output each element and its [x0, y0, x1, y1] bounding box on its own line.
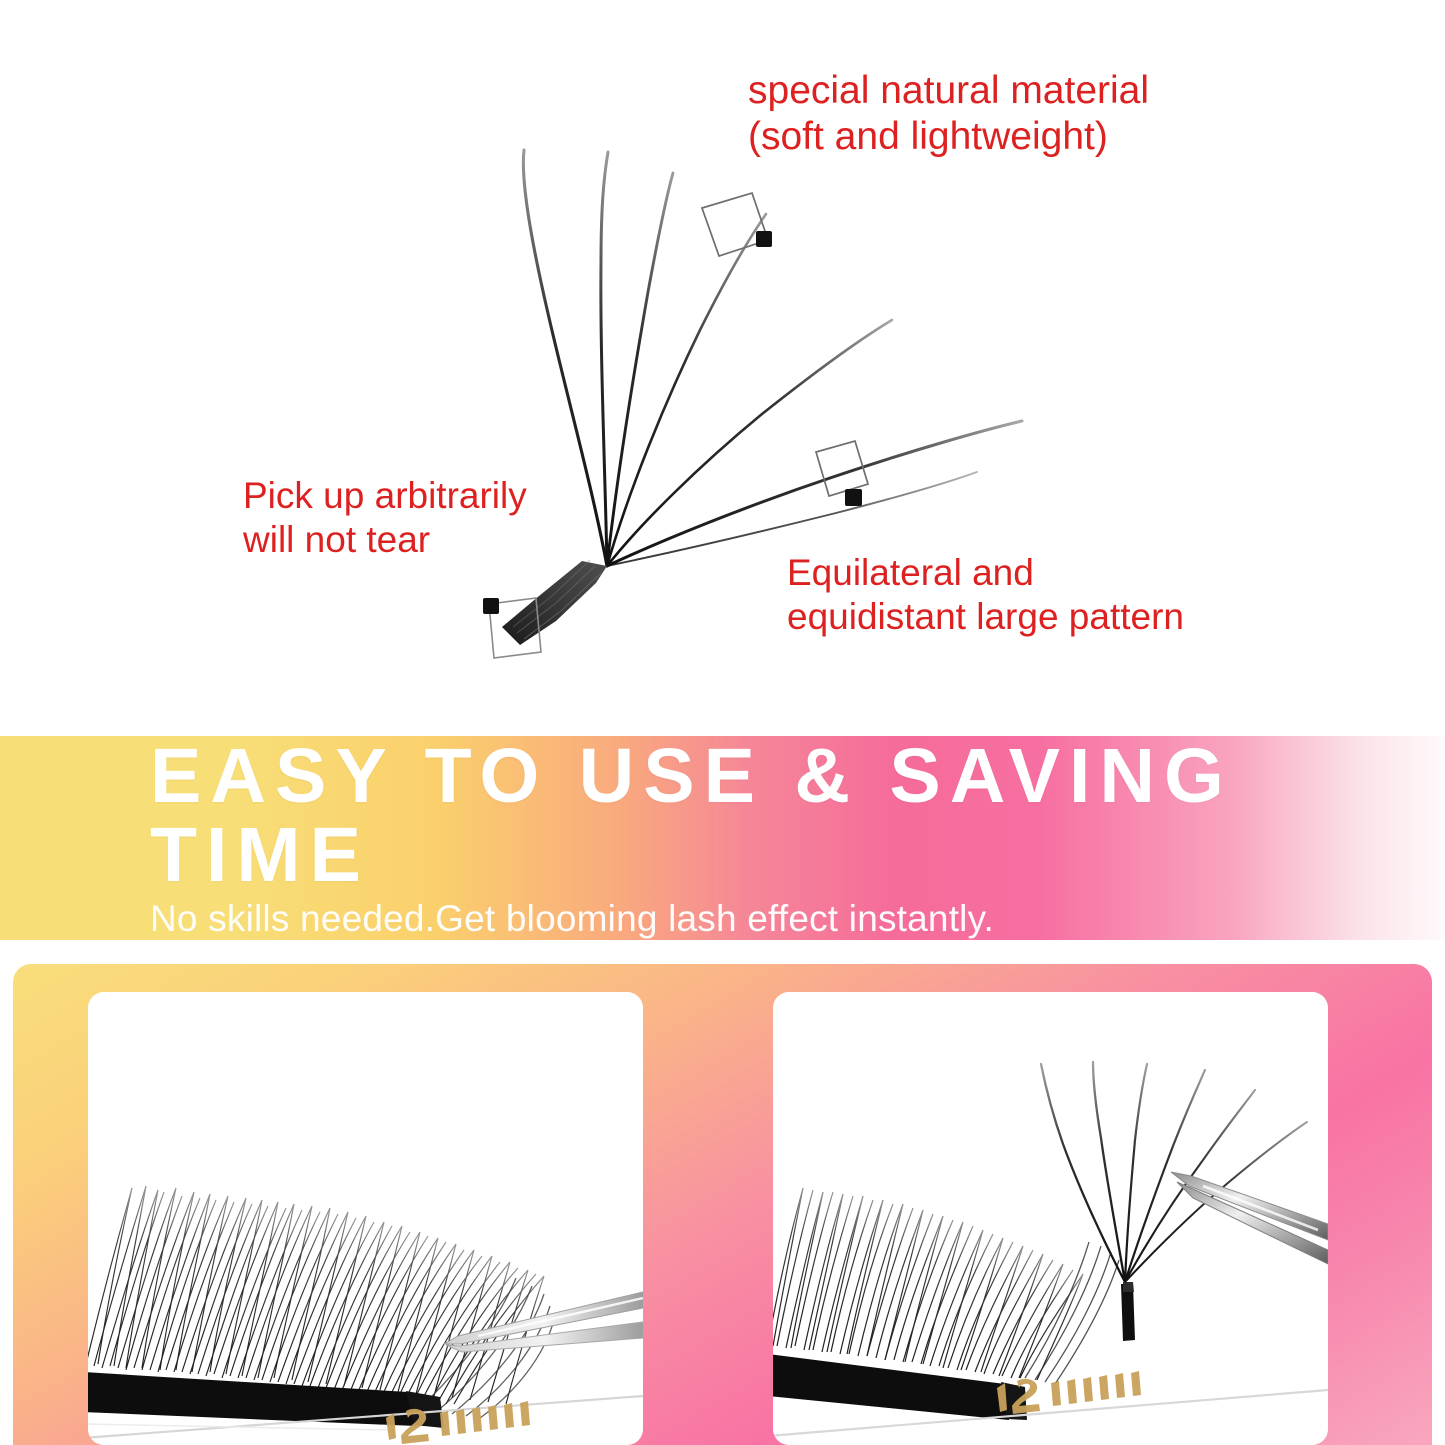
callout-marker-upper — [702, 193, 772, 256]
product-photo-gallery: Close up of lash tray strip with tweezer… — [0, 964, 1445, 1445]
lash-base-strip — [502, 560, 607, 645]
banner-title: EASY TO USE & SAVING TIME — [150, 737, 1445, 894]
banner-subtitle: No skills needed.Get blooming lash effec… — [150, 900, 994, 939]
callout-equilateral-equidistant: Equilateral and equidistant large patter… — [787, 551, 1184, 638]
lash-fan-illustration — [0, 0, 1445, 735]
lash-filaments — [523, 150, 1022, 566]
product-feature-page: special natural material (soft and light… — [0, 0, 1445, 1445]
photo-lash-fan-lifted: Tweezers lifting a single blooming lash … — [773, 992, 1328, 1445]
photo-gradient-frame: Close up of lash tray strip with tweezer… — [13, 964, 1432, 1445]
callout-pick-up-arbitrarily: Pick up arbitrarily will not tear — [243, 474, 527, 561]
easy-to-use-banner: EASY TO USE & SAVING TIME No skills need… — [0, 736, 1445, 940]
photo-lash-tray-tweezers: Close up of lash tray strip with tweezer… — [88, 992, 643, 1445]
callout-special-natural-material: special natural material (soft and light… — [748, 68, 1149, 160]
lash-fan-diagram-section: special natural material (soft and light… — [0, 0, 1445, 735]
